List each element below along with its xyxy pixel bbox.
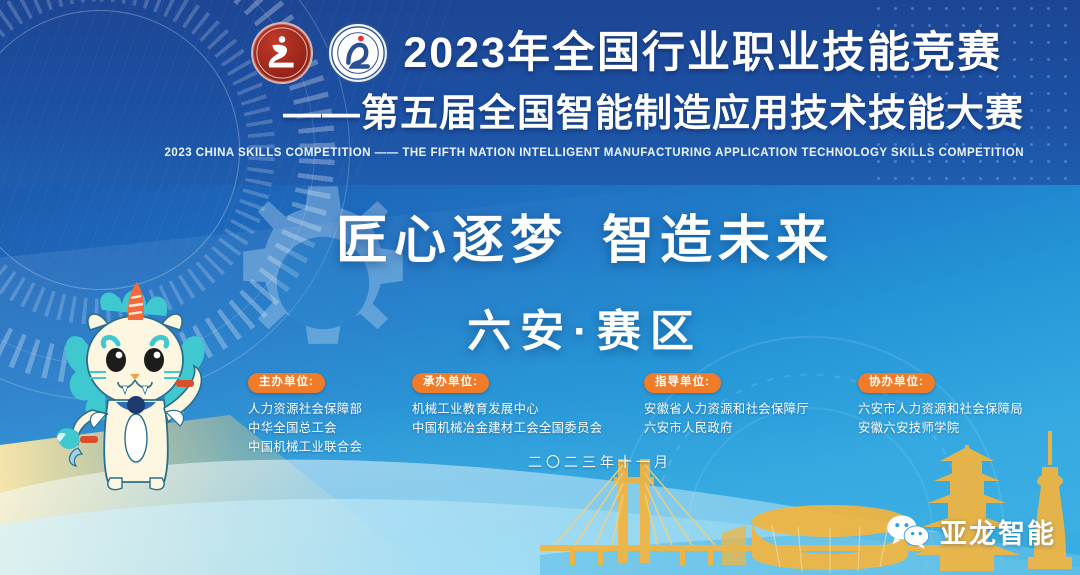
title-row: 2023年全国行业职业技能竞赛: [34, 22, 1046, 84]
slogan-part-1: 匠心逐梦: [336, 212, 568, 270]
poster-subtitle-english: 2023 CHINA SKILLS COMPETITION —— THE FIF…: [34, 147, 1046, 159]
organizer-line: 中国机械冶金建材工会全国委员会: [412, 419, 630, 438]
organizer-label: 主办单位:: [248, 373, 325, 393]
organizer-lines: 安徽省人力资源和社会保障厅 六安市人民政府: [644, 400, 844, 438]
poster-date: 二〇二三年十一月: [0, 452, 1080, 472]
organizer-block: 主办单位: 人力资源社会保障部 中华全国总工会 中国机械工业联合会: [248, 372, 398, 457]
organizer-line: 六安市人民政府: [644, 419, 844, 438]
organizer-list: 主办单位: 人力资源社会保障部 中华全国总工会 中国机械工业联合会 承办单位: …: [248, 372, 1040, 457]
poster-subtitle: ——第五届全国智能制造应用技术技能大赛: [34, 95, 1046, 133]
organizer-line: 安徽省人力资源和社会保障厅: [644, 400, 844, 419]
machinery-industry-emblem-icon: [327, 22, 389, 84]
poster-title: 2023年全国行业职业技能竞赛: [403, 32, 1002, 75]
organizer-block: 指导单位: 安徽省人力资源和社会保障厅 六安市人民政府: [644, 372, 844, 457]
organizer-lines: 六安市人力资源和社会保障局 安徽六安技师学院: [858, 400, 1068, 438]
organizer-lines: 人力资源社会保障部 中华全国总工会 中国机械工业联合会: [248, 400, 398, 457]
organizer-line: 人力资源社会保障部: [248, 400, 398, 419]
poster-header: 2023年全国行业职业技能竞赛 ——第五届全国智能制造应用技术技能大赛 2023…: [0, 22, 1080, 159]
qilin-mascot-icon: [42, 268, 227, 518]
organizer-label: 协办单位:: [858, 373, 935, 393]
organizer-lines: 机械工业教育发展中心 中国机械冶金建材工会全国委员会: [412, 400, 630, 438]
organizer-label: 指导单位:: [644, 373, 721, 393]
organizer-block: 协办单位: 六安市人力资源和社会保障局 安徽六安技师学院: [858, 372, 1068, 457]
wechat-watermark: 亚龙智能: [885, 512, 1056, 551]
slogan-line: 匠心逐梦智造未来: [240, 198, 930, 273]
organizer-block: 承办单位: 机械工业教育发展中心 中国机械冶金建材工会全国委员会: [412, 372, 630, 457]
watermark-text: 亚龙智能: [940, 512, 1056, 551]
organizer-line: 中华全国总工会: [248, 419, 398, 438]
organizer-line: 安徽六安技师学院: [858, 419, 1068, 438]
organizer-line: 机械工业教育发展中心: [412, 400, 630, 419]
organizer-label: 承办单位:: [412, 373, 489, 393]
region-label: 六安·赛区: [240, 295, 930, 359]
china-skills-competition-emblem-icon: [251, 22, 313, 84]
wechat-icon: [885, 515, 931, 549]
slogan-part-2: 智造未来: [602, 212, 834, 270]
competition-poster: 2023年全国行业职业技能竞赛 ——第五届全国智能制造应用技术技能大赛 2023…: [0, 0, 1080, 575]
organizer-line: 六安市人力资源和社会保障局: [858, 400, 1068, 419]
